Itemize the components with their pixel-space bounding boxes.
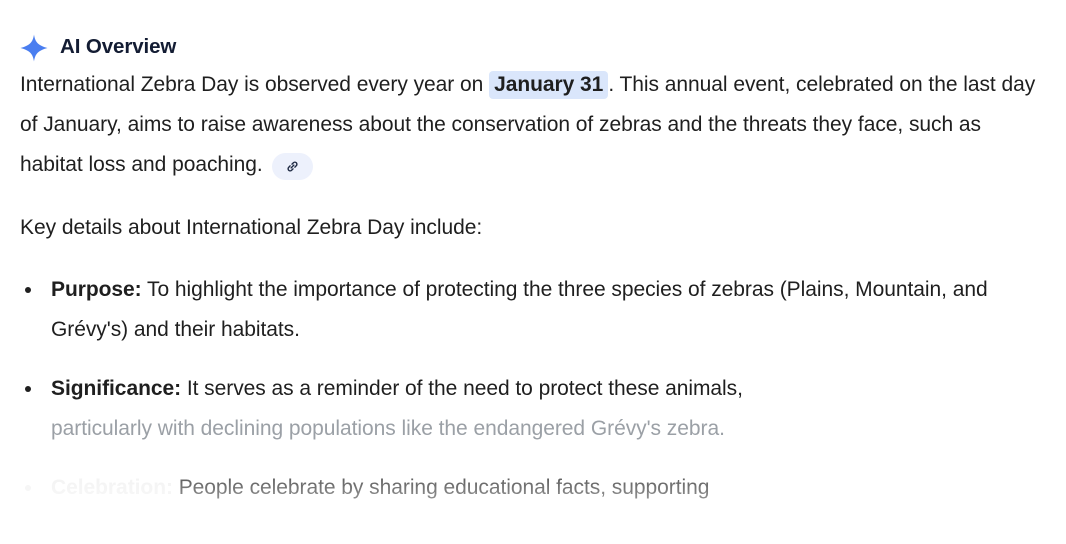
bullet-lead: Purpose: bbox=[51, 278, 142, 301]
source-link-chip[interactable] bbox=[272, 153, 313, 180]
bullet-lead: Significance: bbox=[51, 377, 181, 400]
highlighted-date: January 31 bbox=[489, 71, 608, 99]
bullet-text: It serves as a reminder of the need to p… bbox=[181, 377, 743, 400]
bullet-text-faded: particularly with declining populations … bbox=[51, 417, 725, 440]
list-item: Purpose: To highlight the importance of … bbox=[20, 270, 1020, 350]
bullet-text: People celebrate by sharing educational … bbox=[173, 476, 709, 499]
bullet-lead: Celebration: bbox=[51, 476, 173, 499]
list-item: Celebration: People celebrate by sharing… bbox=[20, 468, 1020, 508]
overview-paragraph-1: International Zebra Day is observed ever… bbox=[20, 65, 1045, 185]
ai-overview-body: International Zebra Day is observed ever… bbox=[0, 65, 1066, 508]
overview-paragraph-2: Key details about International Zebra Da… bbox=[20, 208, 1045, 248]
paragraph-1-text-before: International Zebra Day is observed ever… bbox=[20, 73, 489, 96]
ai-overview-panel: AI Overview International Zebra Day is o… bbox=[0, 0, 1066, 544]
sparkle-icon bbox=[19, 32, 49, 63]
page-title: AI Overview bbox=[60, 37, 176, 58]
key-details-list: Purpose: To highlight the importance of … bbox=[20, 270, 1046, 508]
bullet-text: To highlight the importance of protectin… bbox=[51, 278, 988, 341]
list-item: Significance: It serves as a reminder of… bbox=[20, 369, 1020, 449]
ai-overview-header: AI Overview bbox=[0, 0, 1066, 47]
link-icon bbox=[284, 158, 301, 175]
